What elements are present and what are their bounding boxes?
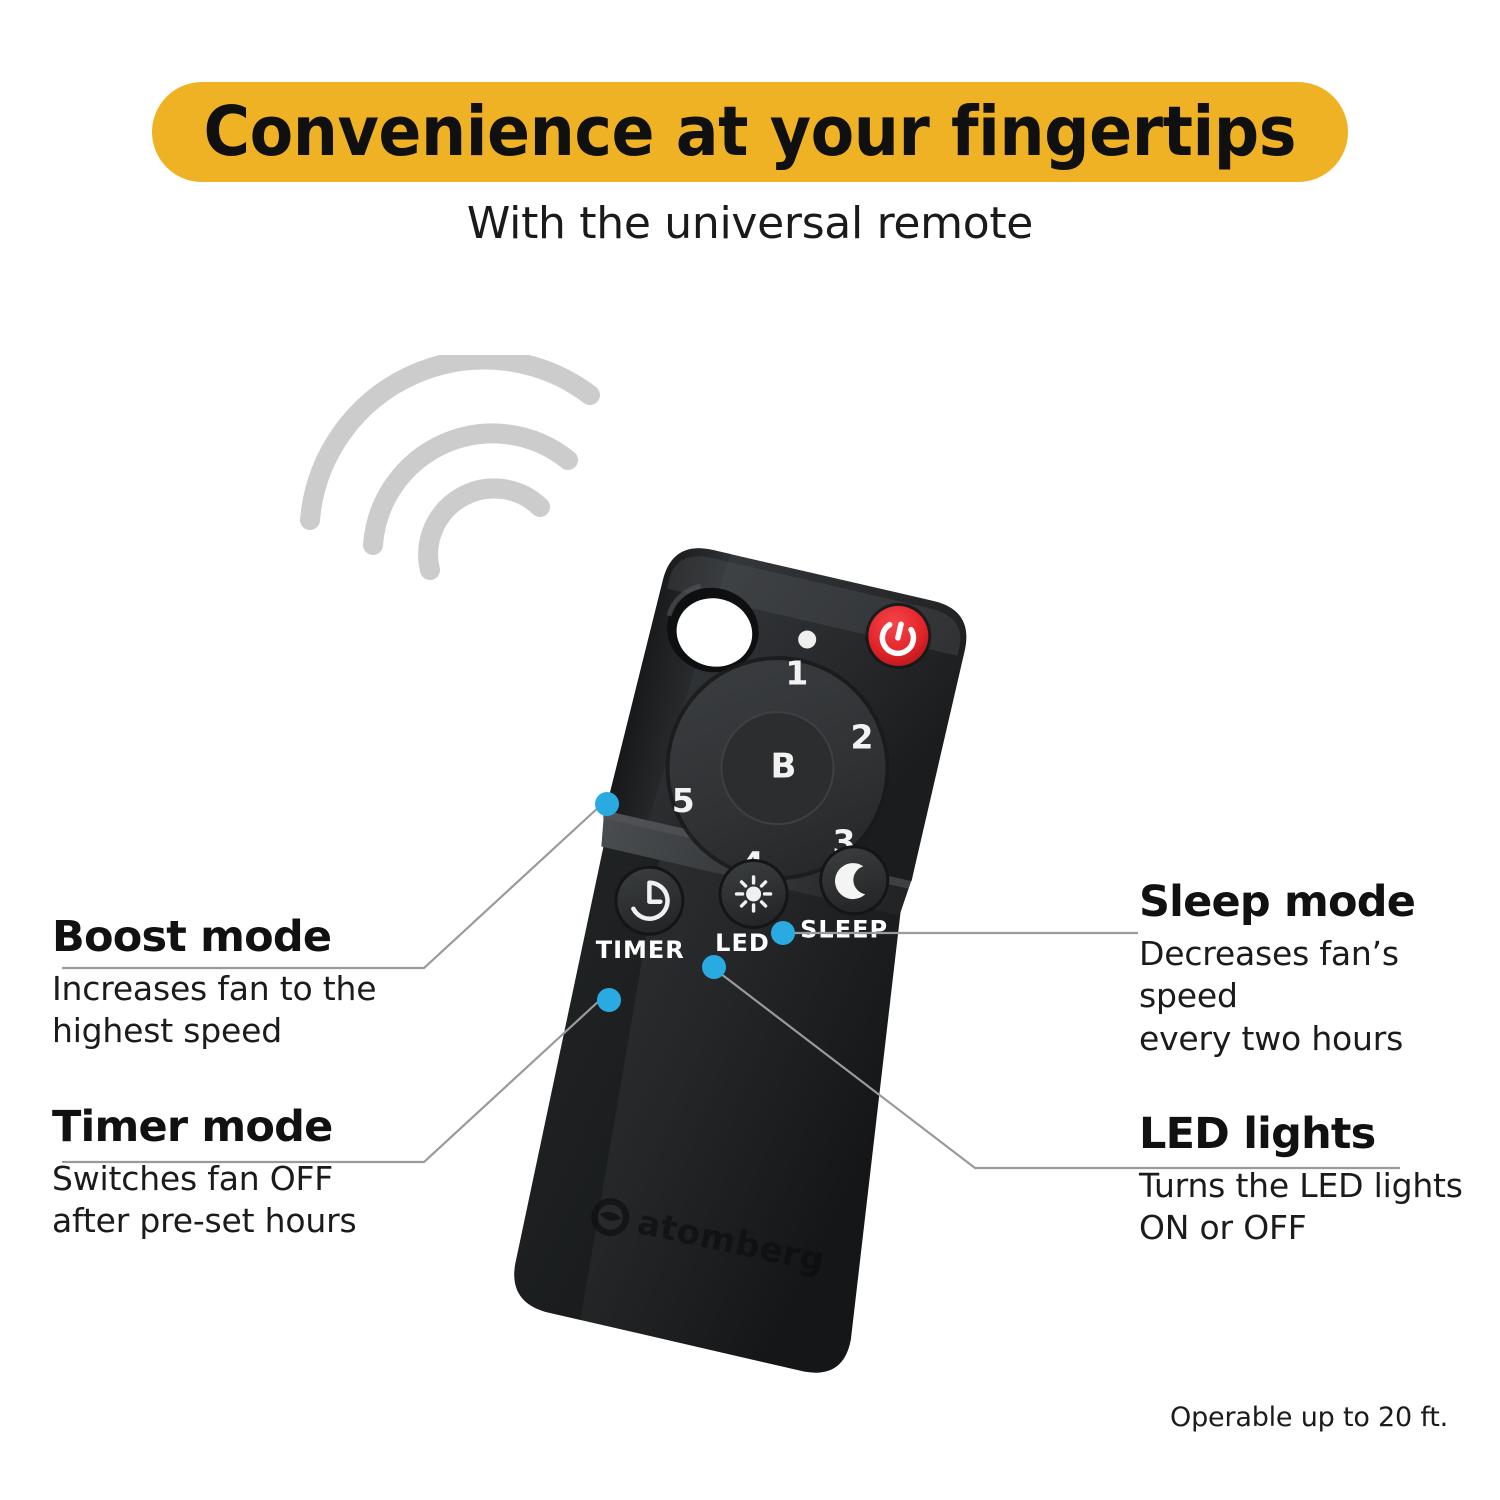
- page-subtitle: With the universal remote: [0, 198, 1500, 249]
- svg-text:2: 2: [851, 718, 874, 757]
- callout-sleep-desc-line1: Decreases fan’s speed: [1139, 933, 1500, 1017]
- sleep-button-label: SLEEP: [800, 915, 888, 943]
- callout-dot-sleep[interactable]: [771, 921, 795, 945]
- callout-boost-desc-line2: highest speed: [52, 1010, 376, 1052]
- callout-led-title: LED lights: [1139, 1112, 1463, 1157]
- svg-text:5: 5: [672, 781, 695, 820]
- callout-sleep: Sleep mode Decreases fan’s speed every t…: [1139, 880, 1500, 1060]
- callout-timer-title: Timer mode: [52, 1105, 356, 1150]
- header-banner: Convenience at your fingertips: [152, 82, 1348, 182]
- boost-button-label: B: [771, 747, 797, 787]
- page-title: Convenience at your fingertips: [204, 98, 1297, 167]
- callout-dot-timer[interactable]: [597, 988, 621, 1012]
- callout-led-desc-line2: ON or OFF: [1139, 1207, 1463, 1249]
- callout-timer-desc-line2: after pre-set hours: [52, 1200, 356, 1242]
- callout-boost: Boost mode Increases fan to the highest …: [52, 915, 376, 1053]
- callout-boost-desc-line1: Increases fan to the: [52, 968, 376, 1010]
- infographic-canvas: Convenience at your fingertips With the …: [0, 0, 1500, 1500]
- timer-button-label: TIMER: [596, 936, 685, 964]
- sun-brightness-icon: [737, 877, 771, 911]
- callout-timer: Timer mode Switches fan OFF after pre-se…: [52, 1105, 356, 1243]
- led-button-label: LED: [715, 929, 770, 957]
- callout-led-desc-line1: Turns the LED lights: [1139, 1165, 1463, 1207]
- callout-sleep-desc-line2: every two hours: [1139, 1018, 1500, 1060]
- remote-control: atomberg: [430, 545, 1050, 1405]
- callout-boost-title: Boost mode: [52, 915, 376, 960]
- svg-text:1: 1: [785, 653, 808, 692]
- callout-led: LED lights Turns the LED lights ON or OF…: [1139, 1112, 1463, 1250]
- callout-timer-desc-line1: Switches fan OFF: [52, 1158, 356, 1200]
- range-footnote: Operable up to 20 ft.: [1170, 1402, 1448, 1433]
- callout-dot-boost[interactable]: [595, 792, 619, 816]
- callout-sleep-title: Sleep mode: [1139, 880, 1500, 925]
- callout-dot-led[interactable]: [702, 955, 726, 979]
